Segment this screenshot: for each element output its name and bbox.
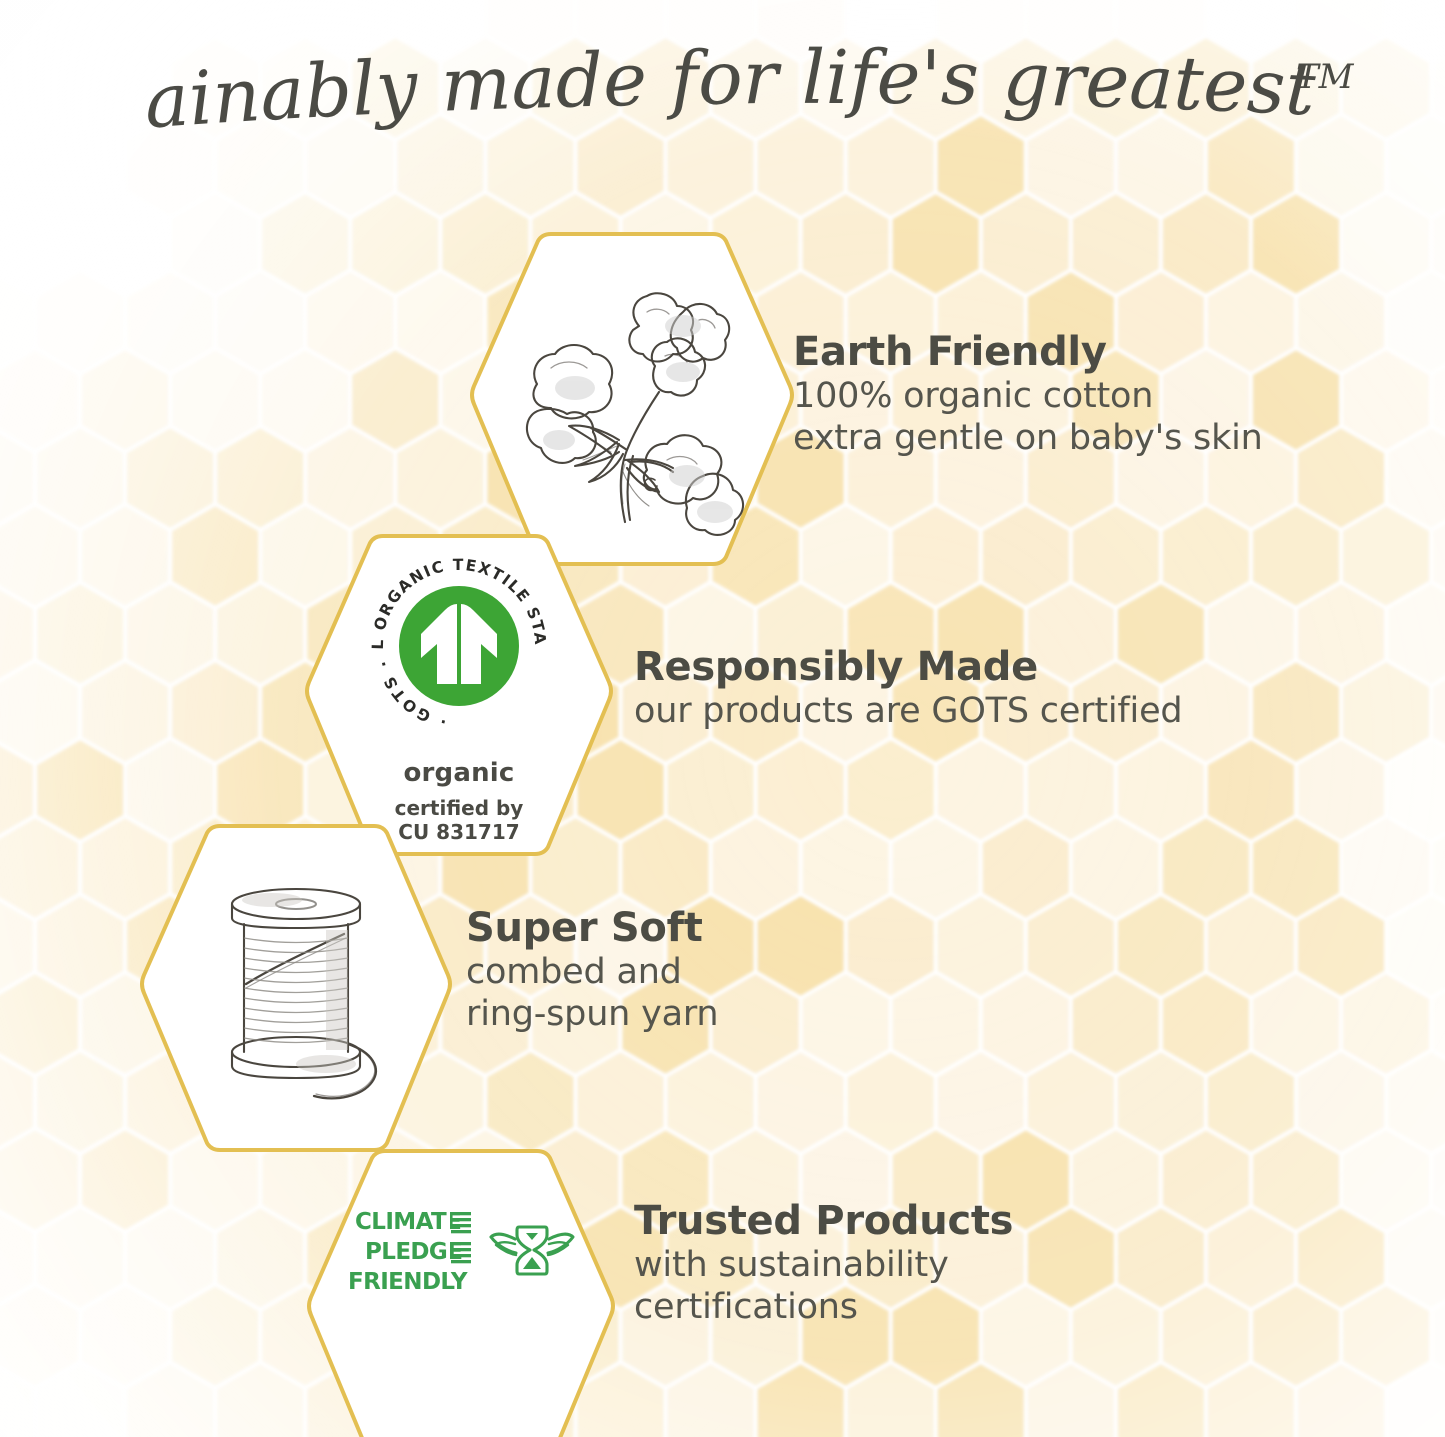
feature-subline-1: 100% organic cotton: [793, 375, 1263, 418]
feature-title: Responsibly Made: [634, 645, 1182, 690]
infographic-stage: sustainably made for life's greatest joy…: [0, 0, 1445, 1437]
feature-subline-1: our products are GOTS certified: [634, 690, 1182, 733]
headline-text: sustainably made for life's greatest joy: [0, 36, 1317, 145]
climate-pledge-wordmark: CLIMATE PLEDGE FRIENDLY: [347, 1207, 475, 1293]
gots-organic-label: organic: [403, 758, 514, 788]
feature-hexagon-trusted-products: CLIMATE PLEDGE FRIENDLY: [303, 1145, 619, 1431]
gots-certification-logo: GLOBAL ORGANIC TEXTILE STANDARD · GOTS ·…: [361, 548, 557, 844]
feature-subline-2: extra gentle on baby's skin: [793, 417, 1263, 460]
climate-pledge-line3: FRIENDLY: [348, 1269, 468, 1295]
feature-subline-1: with sustainability: [634, 1244, 1013, 1287]
feature-hexagon-earth-friendly: [466, 228, 798, 570]
feature-title: Super Soft: [466, 906, 718, 951]
feature-text-trusted-products: Trusted Products with sustainability cer…: [634, 1199, 1013, 1329]
winged-hourglass-icon: [489, 1211, 575, 1289]
cotton-branch-sketch-icon: [466, 228, 798, 570]
feature-title: Earth Friendly: [793, 330, 1263, 375]
feature-text-super-soft: Super Soft combed and ring-spun yarn: [466, 906, 718, 1036]
page-title: sustainably made for life's greatest joy…: [0, 36, 1445, 146]
feature-hexagon-responsibly-made: GLOBAL ORGANIC TEXTILE STANDARD · GOTS ·…: [301, 530, 617, 860]
feature-text-responsibly-made: Responsibly Made our products are GOTS c…: [634, 645, 1182, 732]
thread-spool-sketch-icon: [136, 820, 456, 1156]
gots-seal-icon: GLOBAL ORGANIC TEXTILE STANDARD · GOTS ·: [361, 548, 557, 744]
feature-text-earth-friendly: Earth Friendly 100% organic cotton extra…: [793, 330, 1263, 460]
feature-subline-2: certifications: [634, 1286, 1013, 1329]
climate-pledge-line1: CLIMATE: [355, 1209, 461, 1235]
trademark-symbol: TM: [1296, 57, 1355, 97]
gots-certified-by-label: certified by: [395, 796, 524, 820]
feature-title: Trusted Products: [634, 1199, 1013, 1244]
svg-text:sustainably made for life's gr: sustainably made for life's greatest joy: [0, 36, 1317, 145]
feature-subline-1: combed and: [466, 951, 718, 994]
feature-hexagon-super-soft: [136, 820, 456, 1156]
climate-pledge-friendly-logo: CLIMATE PLEDGE FRIENDLY: [347, 1207, 575, 1293]
feature-subline-2: ring-spun yarn: [466, 993, 718, 1036]
